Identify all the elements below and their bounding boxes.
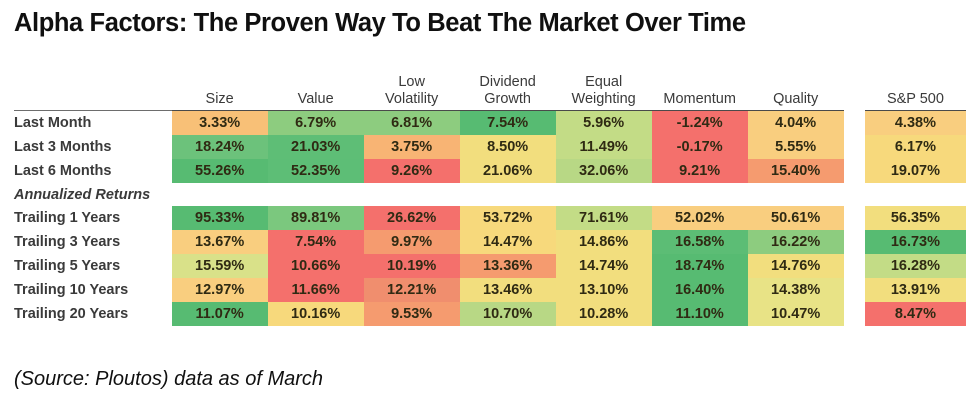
- data-cell-quality: 4.04%: [748, 111, 844, 136]
- column-header-eqweight: EqualWeighting: [556, 62, 652, 111]
- source-note: (Source: Ploutos) data as of March: [14, 368, 323, 391]
- data-cell-quality: 5.55%: [748, 135, 844, 159]
- data-cell-quality: 15.40%: [748, 159, 844, 183]
- data-cell-divgrowth: 53.72%: [460, 206, 556, 230]
- data-cell-value: 6.79%: [268, 111, 364, 136]
- table-row: Trailing 5 Years15.59%10.66%10.19%13.36%…: [14, 254, 966, 278]
- data-cell-value: 11.66%: [268, 278, 364, 302]
- screenshot-root: Alpha Factors: The Proven Way To Beat Th…: [0, 0, 980, 418]
- data-cell-size: 95.33%: [172, 206, 268, 230]
- section-label: Annualized Returns: [14, 183, 172, 206]
- data-cell-value: 21.03%: [268, 135, 364, 159]
- data-cell-momentum: 16.40%: [652, 278, 748, 302]
- data-cell-eqweight: 14.86%: [556, 230, 652, 254]
- table-head: SizeValueLowVolatilityDividendGrowthEqua…: [14, 62, 966, 111]
- data-cell-momentum: -1.24%: [652, 111, 748, 136]
- data-cell-eqweight: 5.96%: [556, 111, 652, 136]
- column-header-line2: Quality: [748, 91, 844, 108]
- page-title: Alpha Factors: The Proven Way To Beat Th…: [14, 9, 954, 38]
- empty-cell: [364, 183, 460, 206]
- header-corner-blank: [14, 62, 172, 111]
- data-cell-eqweight: 11.49%: [556, 135, 652, 159]
- column-header-value: Value: [268, 62, 364, 111]
- benchmark-cell-sp500: 13.91%: [865, 278, 966, 302]
- column-header-sp500: S&P 500: [865, 62, 966, 111]
- column-spacer: [844, 135, 865, 159]
- table-header-row: SizeValueLowVolatilityDividendGrowthEqua…: [14, 62, 966, 111]
- data-cell-eqweight: 14.74%: [556, 254, 652, 278]
- data-cell-lowvol: 9.53%: [364, 302, 460, 326]
- data-cell-value: 10.16%: [268, 302, 364, 326]
- table-row: Trailing 10 Years12.97%11.66%12.21%13.46…: [14, 278, 966, 302]
- data-cell-quality: 50.61%: [748, 206, 844, 230]
- benchmark-cell-sp500: 8.47%: [865, 302, 966, 326]
- data-cell-lowvol: 12.21%: [364, 278, 460, 302]
- data-cell-divgrowth: 10.70%: [460, 302, 556, 326]
- empty-cell: [652, 183, 748, 206]
- data-cell-size: 12.97%: [172, 278, 268, 302]
- table-row: Trailing 20 Years11.07%10.16%9.53%10.70%…: [14, 302, 966, 326]
- column-header-spacer: [844, 62, 865, 111]
- data-cell-lowvol: 26.62%: [364, 206, 460, 230]
- data-cell-size: 13.67%: [172, 230, 268, 254]
- data-cell-momentum: 11.10%: [652, 302, 748, 326]
- empty-cell: [865, 183, 966, 206]
- empty-cell: [748, 183, 844, 206]
- column-spacer: [844, 254, 865, 278]
- table-row: Last Month3.33%6.79%6.81%7.54%5.96%-1.24…: [14, 111, 966, 136]
- benchmark-cell-sp500: 6.17%: [865, 135, 966, 159]
- data-cell-quality: 14.38%: [748, 278, 844, 302]
- row-label: Trailing 3 Years: [14, 230, 172, 254]
- data-cell-momentum: 18.74%: [652, 254, 748, 278]
- data-cell-divgrowth: 8.50%: [460, 135, 556, 159]
- data-cell-value: 7.54%: [268, 230, 364, 254]
- data-cell-lowvol: 6.81%: [364, 111, 460, 136]
- column-header-line2: Volatility: [364, 91, 460, 108]
- data-cell-quality: 16.22%: [748, 230, 844, 254]
- data-cell-value: 89.81%: [268, 206, 364, 230]
- row-label: Last 3 Months: [14, 135, 172, 159]
- data-cell-value: 10.66%: [268, 254, 364, 278]
- empty-cell: [172, 183, 268, 206]
- table-row: Last 3 Months18.24%21.03%3.75%8.50%11.49…: [14, 135, 966, 159]
- data-cell-lowvol: 3.75%: [364, 135, 460, 159]
- column-header-lowvol: LowVolatility: [364, 62, 460, 111]
- benchmark-cell-sp500: 4.38%: [865, 111, 966, 136]
- column-header-line2: Size: [172, 91, 268, 108]
- data-cell-size: 11.07%: [172, 302, 268, 326]
- benchmark-cell-sp500: 56.35%: [865, 206, 966, 230]
- alpha-factors-table: SizeValueLowVolatilityDividendGrowthEqua…: [14, 62, 966, 326]
- benchmark-cell-sp500: 16.28%: [865, 254, 966, 278]
- column-spacer: [844, 302, 865, 326]
- column-spacer: [844, 159, 865, 183]
- column-header-line1: Low: [364, 74, 460, 91]
- column-header-line2: S&P 500: [865, 91, 966, 108]
- data-cell-eqweight: 32.06%: [556, 159, 652, 183]
- column-spacer: [844, 206, 865, 230]
- data-cell-lowvol: 9.97%: [364, 230, 460, 254]
- column-header-line2: Weighting: [556, 91, 652, 108]
- data-cell-divgrowth: 14.47%: [460, 230, 556, 254]
- data-cell-divgrowth: 13.46%: [460, 278, 556, 302]
- column-header-quality: Quality: [748, 62, 844, 111]
- data-cell-momentum: 9.21%: [652, 159, 748, 183]
- benchmark-cell-sp500: 19.07%: [865, 159, 966, 183]
- data-cell-size: 3.33%: [172, 111, 268, 136]
- column-header-line1: Equal: [556, 74, 652, 91]
- data-cell-quality: 10.47%: [748, 302, 844, 326]
- data-cell-divgrowth: 21.06%: [460, 159, 556, 183]
- column-header-line2: Momentum: [652, 91, 748, 108]
- column-spacer: [844, 111, 865, 136]
- data-cell-divgrowth: 13.36%: [460, 254, 556, 278]
- benchmark-cell-sp500: 16.73%: [865, 230, 966, 254]
- empty-cell: [556, 183, 652, 206]
- table-body: Last Month3.33%6.79%6.81%7.54%5.96%-1.24…: [14, 111, 966, 327]
- empty-cell: [844, 183, 865, 206]
- column-header-line2: Growth: [460, 91, 556, 108]
- data-cell-momentum: 16.58%: [652, 230, 748, 254]
- table-row: Trailing 3 Years13.67%7.54%9.97%14.47%14…: [14, 230, 966, 254]
- empty-cell: [460, 183, 556, 206]
- row-label: Trailing 20 Years: [14, 302, 172, 326]
- column-header-line2: Value: [268, 91, 364, 108]
- empty-cell: [268, 183, 364, 206]
- data-cell-size: 55.26%: [172, 159, 268, 183]
- data-cell-momentum: -0.17%: [652, 135, 748, 159]
- row-label: Trailing 1 Years: [14, 206, 172, 230]
- alpha-factors-table-container: SizeValueLowVolatilityDividendGrowthEqua…: [14, 62, 966, 326]
- table-section-row: Annualized Returns: [14, 183, 966, 206]
- row-label: Trailing 5 Years: [14, 254, 172, 278]
- row-label: Last Month: [14, 111, 172, 136]
- row-label: Trailing 10 Years: [14, 278, 172, 302]
- column-header-momentum: Momentum: [652, 62, 748, 111]
- data-cell-eqweight: 71.61%: [556, 206, 652, 230]
- data-cell-size: 15.59%: [172, 254, 268, 278]
- column-header-size: Size: [172, 62, 268, 111]
- data-cell-eqweight: 10.28%: [556, 302, 652, 326]
- table-row: Last 6 Months55.26%52.35%9.26%21.06%32.0…: [14, 159, 966, 183]
- data-cell-eqweight: 13.10%: [556, 278, 652, 302]
- data-cell-value: 52.35%: [268, 159, 364, 183]
- data-cell-lowvol: 10.19%: [364, 254, 460, 278]
- column-header-line1: Dividend: [460, 74, 556, 91]
- column-spacer: [844, 230, 865, 254]
- data-cell-quality: 14.76%: [748, 254, 844, 278]
- data-cell-momentum: 52.02%: [652, 206, 748, 230]
- table-row: Trailing 1 Years95.33%89.81%26.62%53.72%…: [14, 206, 966, 230]
- column-header-divgrowth: DividendGrowth: [460, 62, 556, 111]
- column-spacer: [844, 278, 865, 302]
- data-cell-size: 18.24%: [172, 135, 268, 159]
- data-cell-divgrowth: 7.54%: [460, 111, 556, 136]
- row-label: Last 6 Months: [14, 159, 172, 183]
- data-cell-lowvol: 9.26%: [364, 159, 460, 183]
